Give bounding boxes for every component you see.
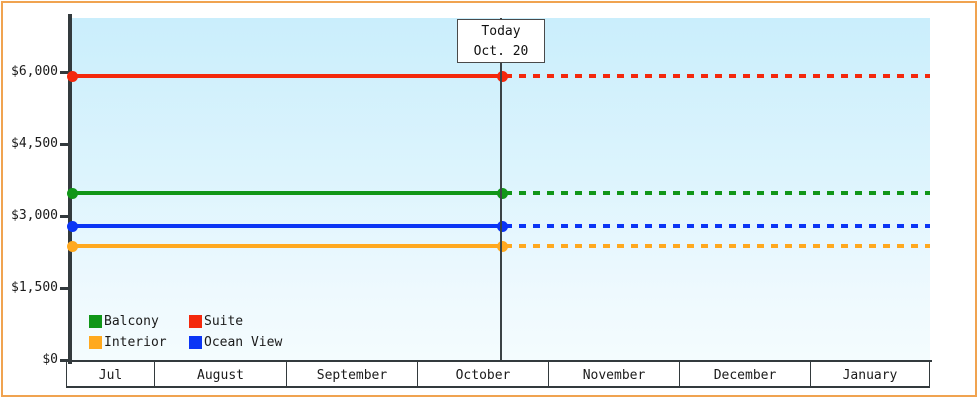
series-line-solid [72, 244, 501, 248]
y-axis-tick [60, 287, 70, 290]
series-today-marker[interactable] [497, 241, 508, 252]
today-annotation-subtitle: Oct. 20 [458, 42, 544, 62]
legend-item-label: Ocean View [204, 335, 282, 350]
y-axis-tick [60, 143, 70, 146]
series-today-marker[interactable] [497, 71, 508, 82]
legend-item-label: Interior [104, 335, 167, 350]
month-axis-cell[interactable]: Jul [66, 362, 155, 388]
month-axis-cell[interactable]: October [418, 362, 549, 388]
y-axis-tick-label: $4,500 [0, 136, 58, 151]
series-line-solid [72, 224, 501, 228]
y-axis-tick-label: $6,000 [0, 64, 58, 79]
series-line-dashed [505, 191, 930, 195]
today-annotation-title: Today [458, 22, 544, 42]
series-line-dashed [505, 224, 930, 228]
legend-item-label: Balcony [104, 314, 159, 329]
month-axis-cell[interactable]: January [811, 362, 930, 388]
legend-item[interactable]: Balcony [89, 314, 189, 329]
legend-item[interactable]: Suite [189, 314, 243, 329]
month-axis-cell[interactable]: September [287, 362, 418, 388]
today-annotation-box: Today Oct. 20 [457, 19, 545, 63]
y-axis-tick-label: $1,500 [0, 280, 58, 295]
legend-color-swatch [189, 315, 202, 328]
series-start-marker [67, 188, 78, 199]
legend-color-swatch [189, 336, 202, 349]
legend-color-swatch [89, 315, 102, 328]
month-axis-cell[interactable]: November [549, 362, 680, 388]
legend-item-label: Suite [204, 314, 243, 329]
legend-color-swatch [89, 336, 102, 349]
month-axis-cell[interactable]: December [680, 362, 811, 388]
y-axis-tick [60, 215, 70, 218]
legend-item[interactable]: Ocean View [189, 335, 282, 350]
y-axis-tick-label: $3,000 [0, 208, 58, 223]
month-axis-cell[interactable]: August [155, 362, 287, 388]
series-line-solid [72, 191, 501, 195]
series-line-dashed [505, 74, 930, 78]
series-line-dashed [505, 244, 930, 248]
legend-row: InteriorOcean View [89, 332, 282, 353]
series-start-marker [67, 221, 78, 232]
series-line-solid [72, 74, 501, 78]
legend-item[interactable]: Interior [89, 335, 189, 350]
today-marker-line [500, 18, 502, 360]
series-start-marker [67, 241, 78, 252]
month-axis: JulAugustSeptemberOctoberNovemberDecembe… [66, 362, 930, 388]
series-today-marker[interactable] [497, 188, 508, 199]
series-start-marker [67, 71, 78, 82]
chart-legend: BalconySuiteInteriorOcean View [89, 311, 282, 353]
y-axis-tick-label: $0 [0, 352, 58, 367]
legend-row: BalconySuite [89, 311, 282, 332]
series-today-marker[interactable] [497, 221, 508, 232]
